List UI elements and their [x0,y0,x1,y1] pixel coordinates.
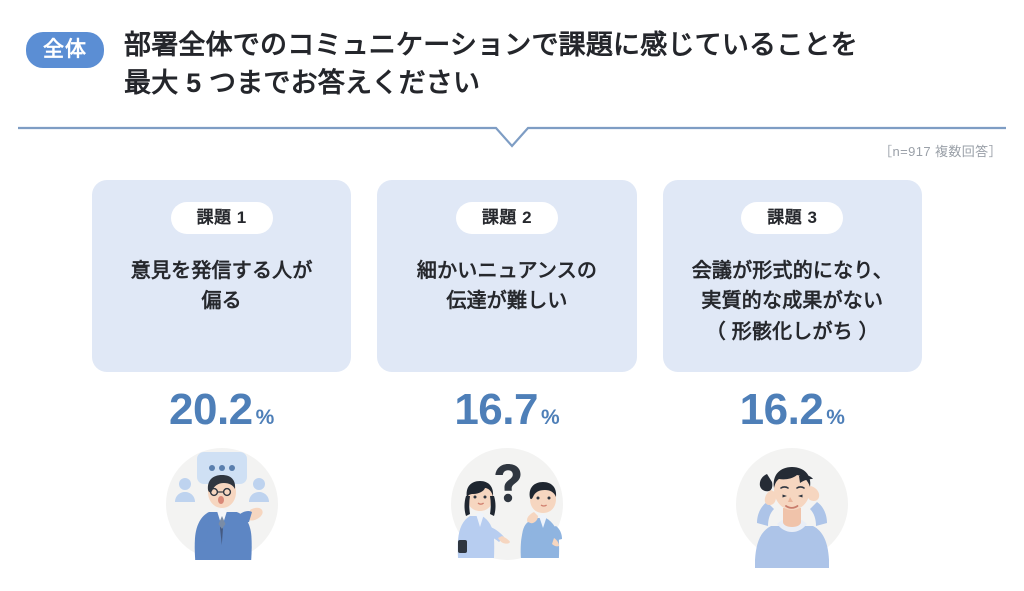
issue-percentage-unit-2: % [541,407,560,428]
issue-column-1: 課題 1 意見を発信する人が 偏る 20.2 % [92,180,351,568]
person-holding-head-frustrated-illustration [727,440,857,568]
divider-notch-icon [18,126,1006,150]
sample-size-note: ［n=917 複数回答］ [879,141,1002,160]
infographic-page: 全体 部署全体でのコミュニケーションで課題に感じていることを 最大 5 つまでお… [0,0,1024,591]
issue-column-2: 課題 2 細かいニュアンスの 伝達が難しい 16.7 % [377,180,636,568]
issue-rank-badge-3: 課題 3 [741,202,843,234]
issue-percentage-value-2: 16.7 [454,388,538,432]
issue-percentage-2: 16.7 % [454,388,559,432]
page-title: 部署全体でのコミュニケーションで課題に感じていることを 最大 5 つまでお答えく… [124,26,1000,103]
issue-rank-badge-1: 課題 1 [171,202,273,234]
two-people-confused-question-mark-illustration [442,440,572,568]
scope-badge: 全体 [26,32,104,68]
issue-card-2: 課題 2 細かいニュアンスの 伝達が難しい [377,180,636,372]
issue-card-1: 課題 1 意見を発信する人が 偏る [92,180,351,372]
issue-rank-badge-2: 課題 2 [456,202,558,234]
issue-percentage-3: 16.2 % [740,388,845,432]
issue-percentage-1: 20.2 % [169,388,274,432]
issue-text-1: 意見を発信する人が 偏る [131,256,313,317]
issue-text-3: 会議が形式的になり、 実質的な成果がない （ 形骸化しがち ） [692,256,893,347]
page-header: 全体 部署全体でのコミュニケーションで課題に感じていることを 最大 5 つまでお… [26,26,1000,103]
issue-percentage-unit-1: % [256,407,275,428]
page-title-line-2: 最大 5 つまでお答えください [124,64,1000,102]
issue-percentage-value-1: 20.2 [169,388,253,432]
issue-text-2: 細かいニュアンスの 伝達が難しい [417,256,597,317]
page-title-line-1: 部署全体でのコミュニケーションで課題に感じていることを [124,26,1000,64]
issue-card-3: 課題 3 会議が形式的になり、 実質的な成果がない （ 形骸化しがち ） [663,180,922,372]
person-speaking-with-audience-icons-illustration [157,440,287,568]
issue-columns: 課題 1 意見を発信する人が 偏る 20.2 % [92,180,922,568]
issue-percentage-value-3: 16.2 [740,388,824,432]
issue-column-3: 課題 3 会議が形式的になり、 実質的な成果がない （ 形骸化しがち ） 16.… [663,180,922,568]
header-divider [18,126,1006,150]
issue-percentage-unit-3: % [826,407,845,428]
